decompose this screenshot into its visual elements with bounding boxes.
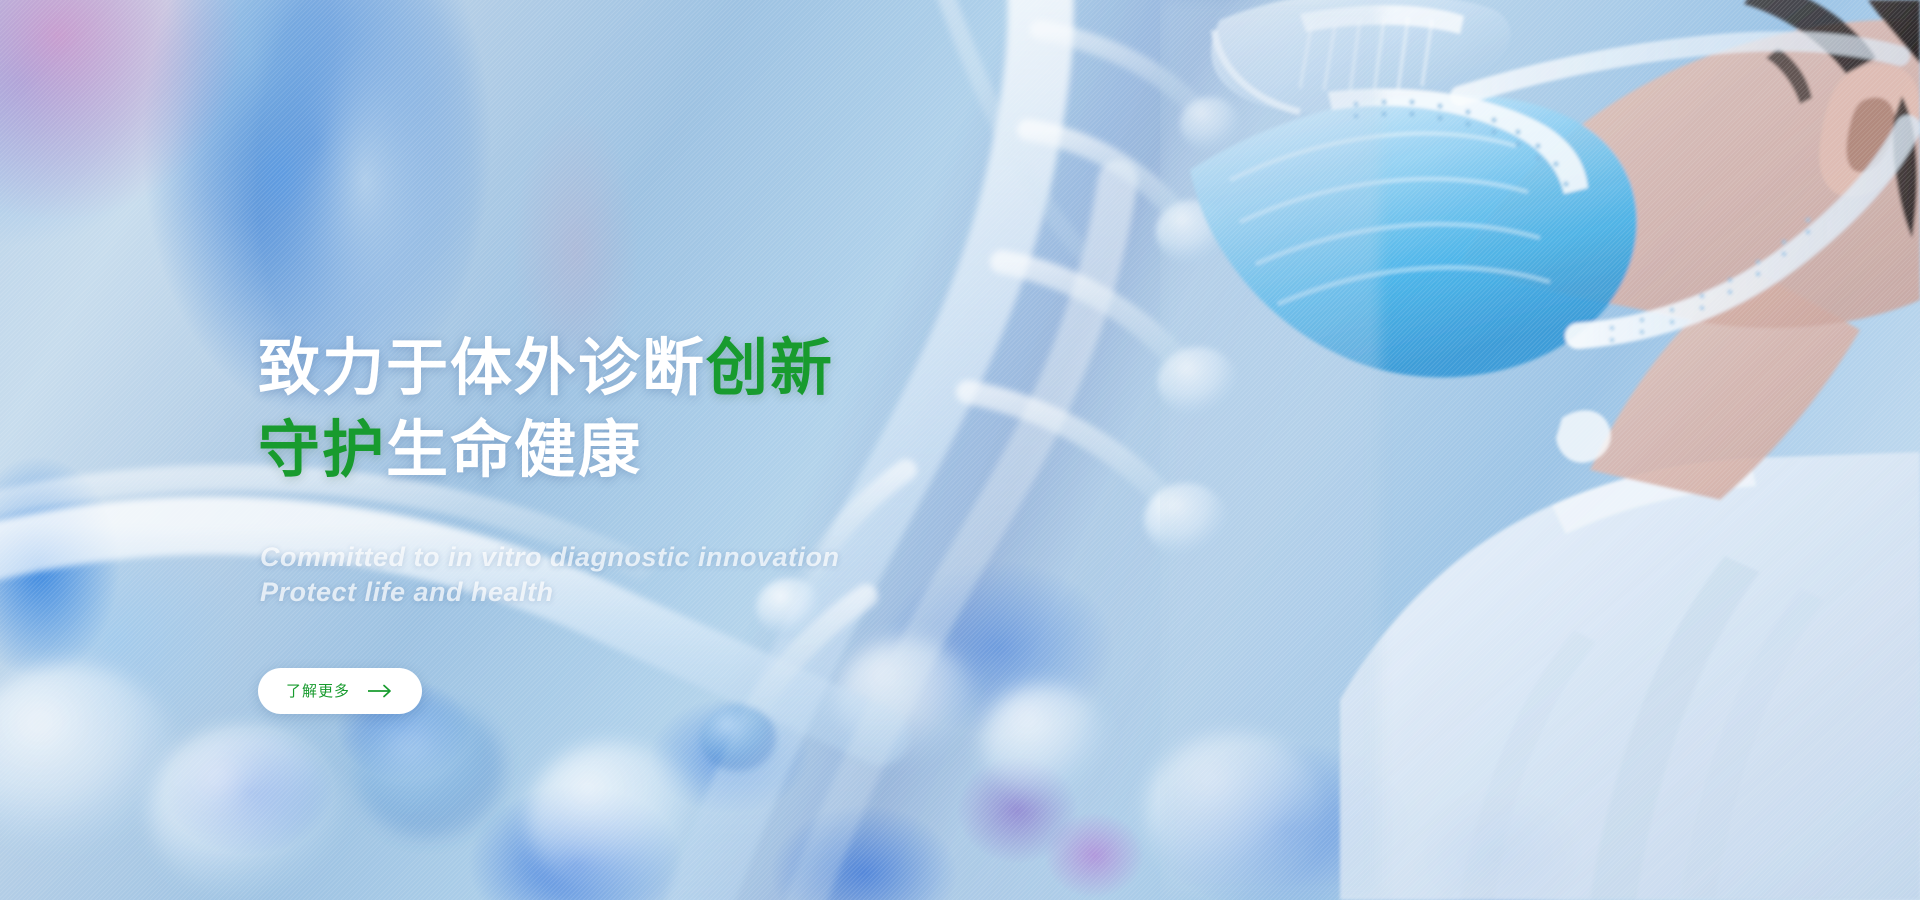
arrow-right-icon xyxy=(368,684,394,698)
headline-line-2-white: 生命健康 xyxy=(386,416,642,485)
headline-line-2-green: 守护 xyxy=(258,416,386,485)
hero-content: 致力于体外诊断创新 守护生命健康 Committed to in vitro d… xyxy=(258,0,1158,900)
subheadline-line-1: Committed to in vitro diagnostic innovat… xyxy=(260,540,840,575)
learn-more-button[interactable]: 了解更多 xyxy=(258,668,422,714)
headline: 致力于体外诊断创新 守护生命健康 xyxy=(258,328,834,492)
subheadline: Committed to in vitro diagnostic innovat… xyxy=(260,540,840,610)
headline-line-2: 守护生命健康 xyxy=(258,410,834,492)
headline-line-1-white: 致力于体外诊断 xyxy=(258,334,706,403)
hero-banner: 致力于体外诊断创新 守护生命健康 Committed to in vitro d… xyxy=(0,0,1920,900)
subheadline-line-2: Protect life and health xyxy=(260,575,840,610)
scientist-figure xyxy=(1160,0,1920,900)
headline-line-1-green: 创新 xyxy=(706,334,834,403)
learn-more-label: 了解更多 xyxy=(286,684,350,699)
headline-line-1: 致力于体外诊断创新 xyxy=(258,328,834,410)
